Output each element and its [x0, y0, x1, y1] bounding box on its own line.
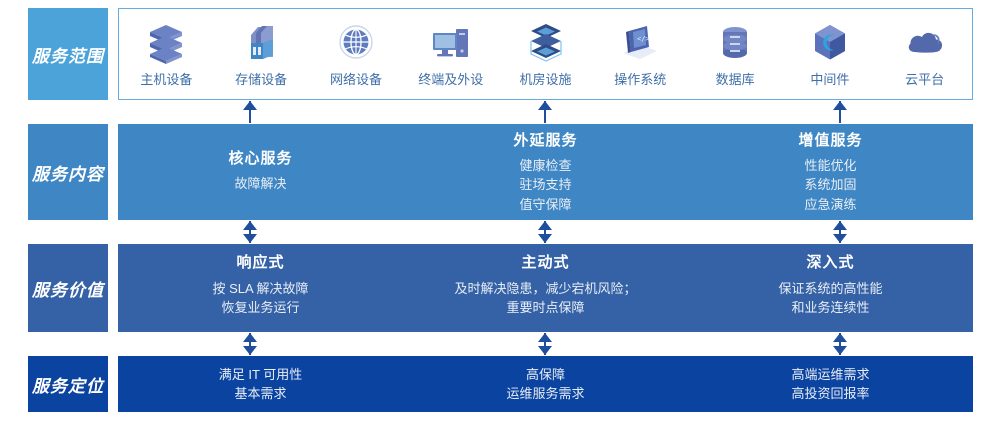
connector-arrow-both-5: [538, 333, 552, 355]
content-cell-core-service[interactable]: 核心服务 故障解决: [118, 124, 403, 220]
cell-line: 驻场支持: [519, 175, 571, 195]
connector-arrow-both-4: [243, 333, 257, 355]
datacenter-facility-icon: [523, 21, 569, 65]
cell-title: 核心服务: [228, 150, 292, 169]
connector-arrow-both-6: [833, 333, 847, 355]
scope-item-label: 机房设施: [520, 69, 572, 88]
database-cylinder-icon: [712, 21, 758, 65]
content-cell-container: 核心服务 故障解决 外延服务 健康检查 驻场支持 值守保障 增值服务 性能优化 …: [118, 124, 973, 220]
value-cell-indepth[interactable]: 深入式 保证系统的高性能 和业务连续性: [688, 244, 973, 332]
position-cell-high-end[interactable]: 高端运维需求 高投资回报率: [688, 356, 973, 412]
content-cell-value-added-service[interactable]: 增值服务 性能优化 系统加固 应急演练: [688, 124, 973, 220]
scope-item-database[interactable]: 数据库: [688, 9, 783, 99]
desktop-peripheral-icon: [428, 21, 474, 65]
cell-line: 重要时点保障: [506, 298, 584, 318]
cell-line: 和业务连续性: [791, 298, 869, 318]
cell-line: 值守保障: [519, 195, 571, 215]
cell-title: 响应式: [236, 254, 284, 273]
cell-title: 增值服务: [798, 132, 862, 151]
row-service-content: 服务内容 核心服务 故障解决 外延服务 健康检查 驻场支持 值守保障 增值服务 …: [0, 124, 1000, 220]
os-book-icon: </>: [617, 21, 663, 65]
cell-line: 按 SLA 解决故障: [212, 279, 308, 299]
position-cell-high-assurance[interactable]: 高保障 运维服务需求: [403, 356, 688, 412]
cell-line: 满足 IT 可用性: [219, 365, 303, 385]
connector-arrow-both-1: [243, 221, 257, 243]
scope-item-host-equipment[interactable]: 主机设备: [119, 9, 214, 99]
cell-title: 外延服务: [513, 132, 577, 151]
content-cell-extended-service[interactable]: 外延服务 健康检查 驻场支持 值守保障: [403, 124, 688, 220]
row-label-service-position: 服务定位: [28, 356, 108, 412]
cell-line: 保证系统的高性能: [778, 279, 882, 299]
cell-line: 高投资回报率: [791, 384, 869, 404]
service-framework-diagram: 服务范围: [0, 0, 1000, 424]
scope-item-label: 云平台: [905, 69, 944, 88]
middleware-cube-icon: [807, 21, 853, 65]
server-stack-icon: [143, 21, 189, 65]
row-service-value: 服务价值 响应式 按 SLA 解决故障 恢复业务运行 主动式 及时解决隐患，减少…: [0, 244, 1000, 332]
value-cell-container: 响应式 按 SLA 解决故障 恢复业务运行 主动式 及时解决隐患，减少宕机风险；…: [118, 244, 973, 332]
cell-line: 性能优化: [804, 156, 856, 176]
position-cell-container: 满足 IT 可用性 基本需求 高保障 运维服务需求 高端运维需求 高投资回报率: [118, 356, 973, 412]
cell-line: 系统加固: [804, 175, 856, 195]
scope-item-label: 终端及外设: [418, 69, 483, 88]
row-service-position: 服务定位 满足 IT 可用性 基本需求 高保障 运维服务需求 高端运维需求 高投…: [0, 356, 1000, 412]
cell-line: 运维服务需求: [506, 384, 584, 404]
value-cell-proactive[interactable]: 主动式 及时解决隐患，减少宕机风险； 重要时点保障: [403, 244, 688, 332]
cell-line: 健康检查: [519, 156, 571, 176]
row-label-service-content: 服务内容: [28, 124, 108, 220]
connector-arrow-both-2: [538, 221, 552, 243]
row-label-service-scope: 服务范围: [28, 8, 108, 100]
position-cell-basic[interactable]: 满足 IT 可用性 基本需求: [118, 356, 403, 412]
cell-line: 高端运维需求: [791, 365, 869, 385]
cell-title: 主动式: [521, 254, 569, 273]
svg-text:</>: </>: [637, 35, 650, 43]
connector-arrow-up-2: [538, 101, 552, 123]
scope-item-operating-system[interactable]: </> 操作系统: [593, 9, 688, 99]
scope-item-label: 数据库: [716, 69, 755, 88]
scope-item-container: 主机设备 存储设备: [118, 8, 973, 100]
scope-item-label: 网络设备: [330, 69, 382, 88]
cloud-platform-icon: [902, 21, 948, 65]
cell-line: 恢复业务运行: [221, 298, 299, 318]
scope-item-storage-equipment[interactable]: 存储设备: [214, 9, 309, 99]
connector-arrow-up-1: [243, 101, 257, 123]
row-label-service-value: 服务价值: [28, 244, 108, 332]
cell-title: 深入式: [806, 254, 854, 273]
scope-item-label: 中间件: [810, 69, 849, 88]
cell-line: 故障解决: [234, 174, 286, 194]
scope-item-middleware[interactable]: 中间件: [782, 9, 877, 99]
connector-arrow-both-3: [833, 221, 847, 243]
scope-item-label: 主机设备: [140, 69, 192, 88]
scope-item-datacenter-facility[interactable]: 机房设施: [498, 9, 593, 99]
cell-line: 基本需求: [234, 384, 286, 404]
value-cell-responsive[interactable]: 响应式 按 SLA 解决故障 恢复业务运行: [118, 244, 403, 332]
scope-item-cloud-platform[interactable]: 云平台: [877, 9, 972, 99]
scope-item-label: 存储设备: [235, 69, 287, 88]
scope-item-label: 操作系统: [614, 69, 666, 88]
scope-item-terminal-peripheral[interactable]: 终端及外设: [403, 9, 498, 99]
cell-line: 高保障: [526, 365, 565, 385]
cell-line: 应急演练: [804, 195, 856, 215]
storage-array-icon: [238, 21, 284, 65]
row-service-scope: 服务范围: [0, 8, 1000, 100]
scope-item-network-equipment[interactable]: 网络设备: [309, 9, 404, 99]
cell-line: 及时解决隐患，减少宕机风险；: [454, 279, 636, 299]
globe-network-icon: [333, 21, 379, 65]
connector-arrow-up-3: [833, 101, 847, 123]
